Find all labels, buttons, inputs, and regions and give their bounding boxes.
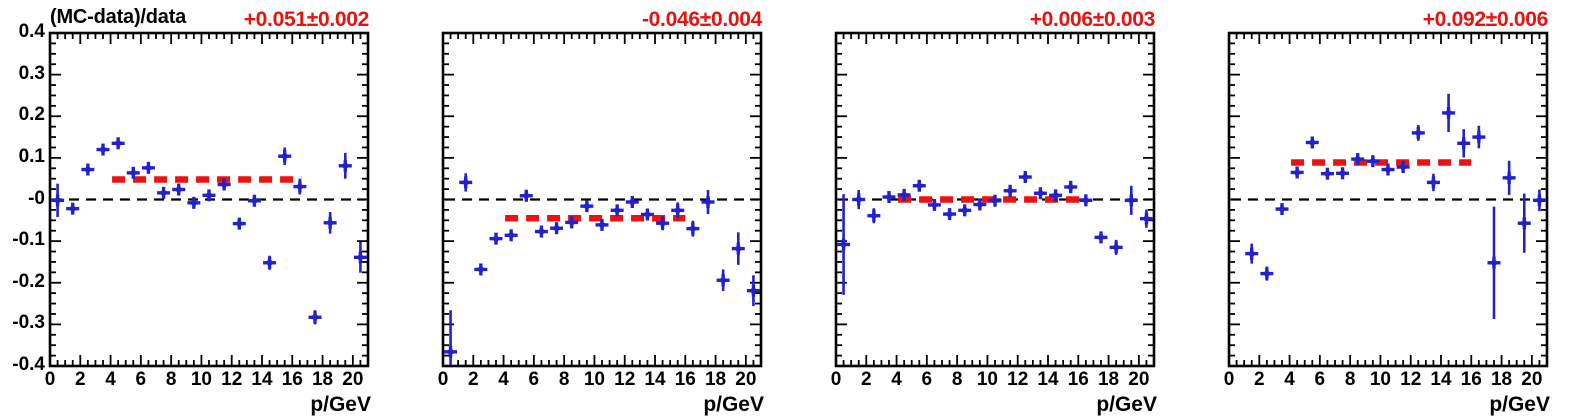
figure-root: (MC-data)/data +0.051±0.002 EM p/GeV 0.4… [0, 0, 1575, 419]
plot-area-tot [786, 0, 1179, 419]
xaxis-title-mip: p/GeV [1489, 393, 1550, 417]
ytick-label: 0.2 [19, 104, 45, 126]
plot-area-mip [1179, 0, 1572, 419]
ytick-label: -0.1 [12, 229, 45, 251]
xtick-label: 20 [333, 369, 373, 391]
ytick-label: 0.3 [19, 63, 45, 85]
xtick-label: 20 [1119, 369, 1159, 391]
xtick-label: 20 [1512, 369, 1552, 391]
panel-tot: +0.006±0.003 TOT p/GeV 02468101214161820 [786, 0, 1179, 419]
plot-area-had [393, 0, 786, 419]
ytick-label: -0.2 [12, 271, 45, 293]
panel-had: -0.046±0.004 HAD p/GeV 02468101214161820 [393, 0, 786, 419]
ytick-label: -0 [28, 188, 45, 210]
xaxis-title-had: p/GeV [703, 393, 764, 417]
xaxis-title-tot: p/GeV [1096, 393, 1157, 417]
ytick-label: 0.4 [19, 21, 45, 43]
xtick-label: 20 [726, 369, 766, 391]
xaxis-title-em: p/GeV [310, 393, 371, 417]
panel-em: (MC-data)/data +0.051±0.002 EM p/GeV 0.4… [0, 0, 393, 419]
ytick-label: -0.3 [12, 312, 45, 334]
panel-mip: +0.092±0.006 MIP p/GeV 02468101214161820 [1179, 0, 1572, 419]
plot-area-em [0, 0, 393, 419]
ytick-label: 0.1 [19, 146, 45, 168]
